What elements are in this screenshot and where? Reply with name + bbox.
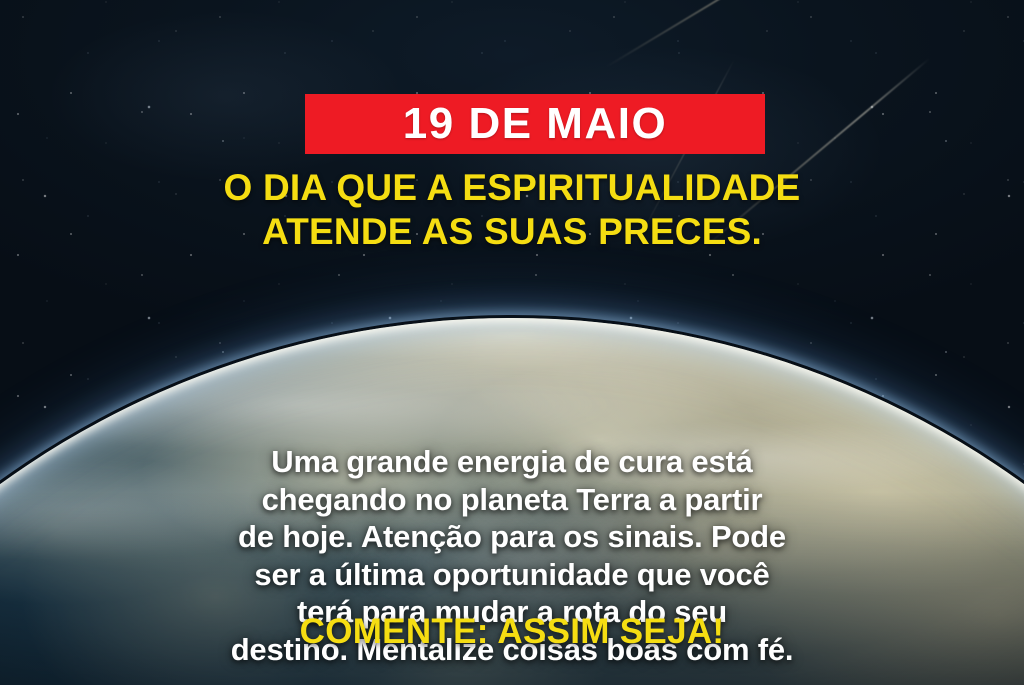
headline-line-1: O DIA QUE A ESPIRITUALIDADE (40, 166, 984, 210)
body-line: chegando no planeta Terra a partir (52, 481, 972, 519)
call-to-action: COMENTE: ASSIM SEJA! (0, 612, 1024, 652)
body-line: Uma grande energia de cura está (52, 443, 972, 481)
date-banner-label: 19 DE MAIO (403, 102, 667, 146)
body-line: ser a última oportunidade que você (52, 556, 972, 594)
body-line: de hoje. Atenção para os sinais. Pode (52, 518, 972, 556)
poster-canvas: 19 DE MAIO O DIA QUE A ESPIRITUALIDADE A… (0, 0, 1024, 685)
headline: O DIA QUE A ESPIRITUALIDADE ATENDE AS SU… (0, 166, 1024, 253)
date-banner: 19 DE MAIO (305, 94, 765, 154)
poster-content: 19 DE MAIO O DIA QUE A ESPIRITUALIDADE A… (0, 0, 1024, 685)
headline-line-2: ATENDE AS SUAS PRECES. (40, 210, 984, 254)
call-to-action-label: COMENTE: ASSIM SEJA! (300, 612, 725, 651)
